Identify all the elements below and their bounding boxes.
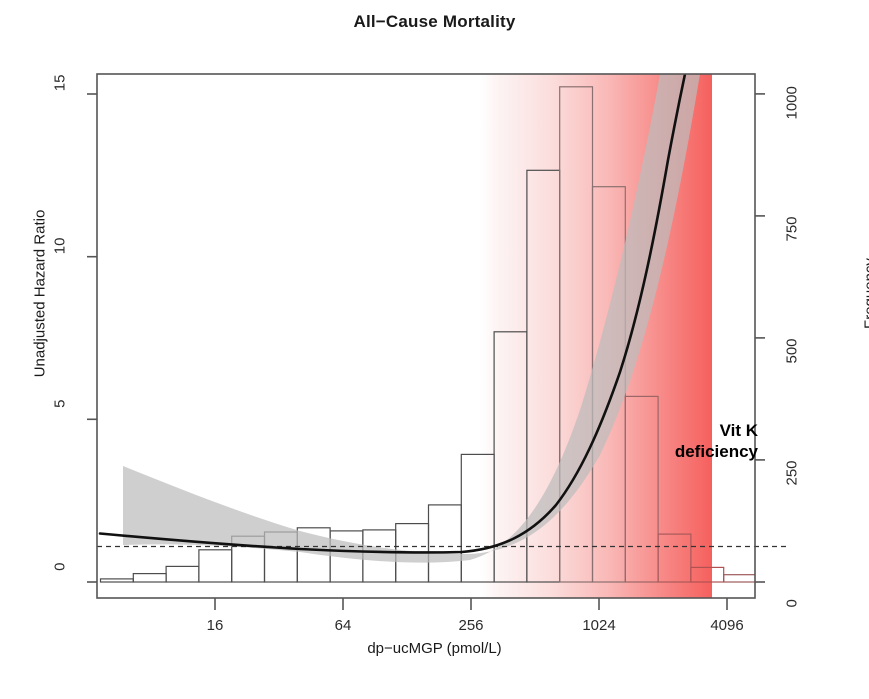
vitk-deficiency-annotation: Vit K deficiency (628, 420, 758, 463)
y-axis-left-label: Unadjusted Hazard Ratio (32, 184, 49, 404)
y-axis-left-tick-0: 0 (52, 563, 69, 603)
y-axis-left-tick-10: 10 (52, 238, 69, 278)
left-axis-ticks (87, 94, 97, 582)
y-axis-right-label: Frequency (862, 184, 869, 404)
bottom-axis-ticks (215, 598, 727, 610)
chart-page: All−Cause Mortality Unadjusted Hazard Ra… (0, 0, 869, 699)
x-axis-tick-4096: 4096 (692, 617, 762, 634)
x-axis-label: dp−ucMGP (pmol/L) (0, 640, 869, 657)
all-cause-mortality-chart (0, 0, 869, 699)
right-axis-ticks (755, 94, 765, 582)
y-axis-right-tick-500: 500 (784, 314, 801, 364)
x-axis-tick-64: 64 (308, 617, 378, 634)
vitk-deficiency-annotation-line1: Vit K (628, 420, 758, 441)
vitk-deficiency-annotation-line2: deficiency (628, 441, 758, 462)
y-axis-right-tick-750: 750 (784, 192, 801, 242)
x-axis-tick-16: 16 (180, 617, 250, 634)
x-axis-tick-1024: 1024 (564, 617, 634, 634)
y-axis-right-tick-1000: 1000 (784, 70, 801, 120)
y-axis-right-tick-250: 250 (784, 436, 801, 486)
x-axis-tick-256: 256 (436, 617, 506, 634)
y-axis-right-tick-0: 0 (784, 558, 801, 608)
y-axis-left-tick-5: 5 (52, 400, 69, 440)
chart-title: All−Cause Mortality (0, 12, 869, 32)
y-axis-left-tick-15: 15 (52, 75, 69, 115)
